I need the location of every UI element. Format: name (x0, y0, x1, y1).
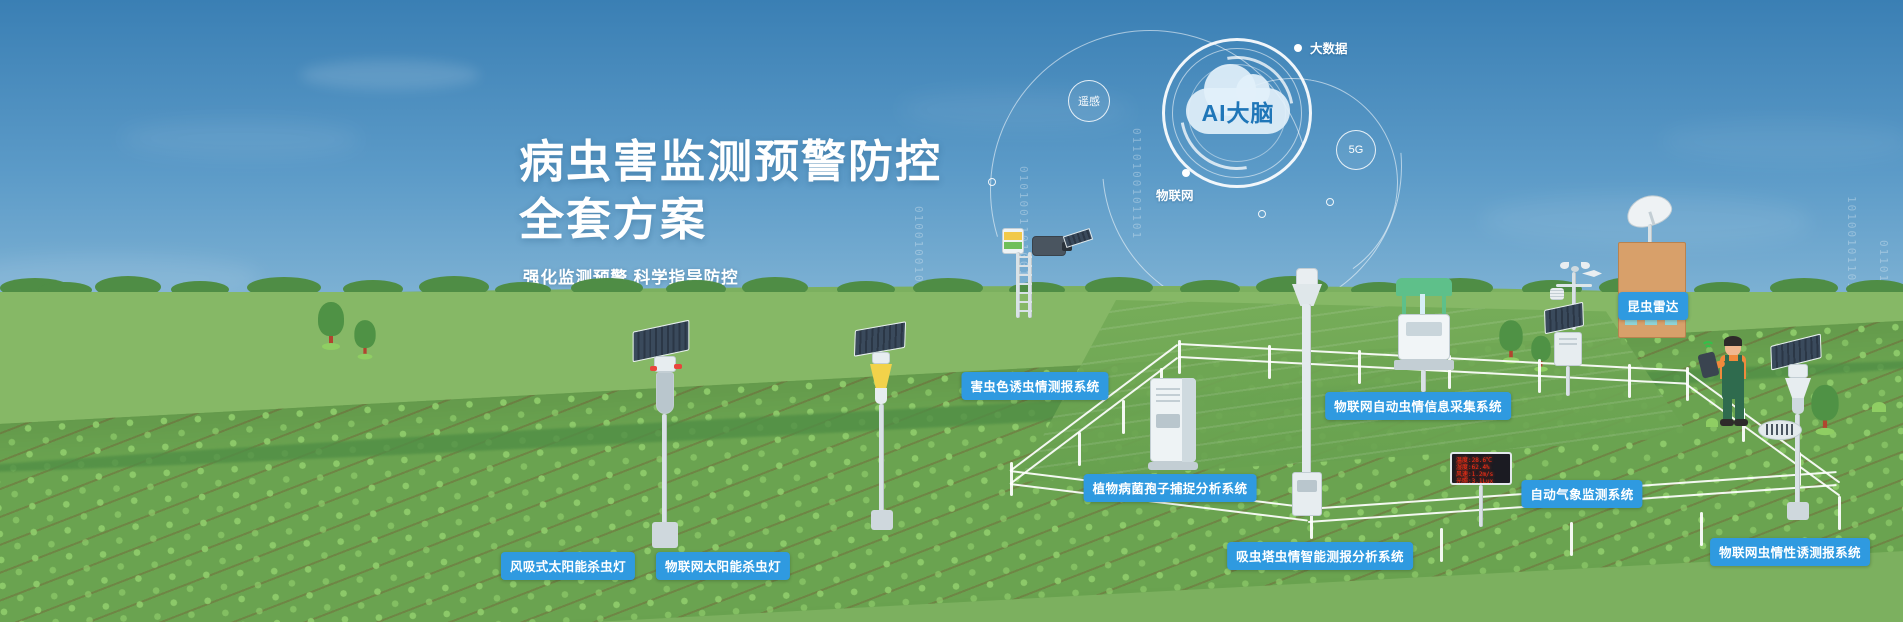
tree (354, 320, 375, 358)
lamp-tube (1420, 294, 1425, 316)
tower-cabinet-panel (1297, 480, 1317, 492)
ai-brain-label: AI大脑 (1202, 94, 1275, 128)
title-block: 病虫害监测预警防控 全套方案 强化监测预警 科学指导防控 (519, 133, 942, 288)
lamp-accent-red (674, 364, 682, 369)
lure-color-strip (1004, 242, 1022, 249)
cloud-decoration (1660, 120, 1903, 164)
lamp-funnel (870, 364, 892, 390)
station-pole (1566, 366, 1570, 396)
node-5g[interactable]: 5G (1336, 130, 1376, 170)
led-line: 温度:28.6℃ (1456, 457, 1506, 464)
worker-leg (1723, 395, 1732, 421)
device-spore-capture[interactable] (1142, 378, 1212, 488)
worker-hair (1724, 336, 1742, 346)
node-remote-sensing[interactable]: 遥感 (1068, 80, 1110, 122)
anemometer-cups (1560, 262, 1590, 272)
led-line: 风速:1.2m/s (1456, 471, 1506, 478)
worker-boot (1720, 419, 1734, 426)
solar-panel (1544, 302, 1584, 335)
led-line: 湿度:62.4% (1456, 464, 1506, 471)
pole-base (1787, 502, 1809, 520)
mounting-pole (662, 414, 667, 526)
spore-panel (1156, 414, 1180, 428)
ai-brain-cloud: AI大脑 (1186, 88, 1290, 134)
label-spore-capture[interactable]: 植物病菌孢子捕捉分析系统 (1084, 474, 1257, 502)
orbit-endpoint-dot (1326, 198, 1334, 206)
ladder-rungs (1016, 256, 1032, 318)
pole-base (652, 522, 678, 548)
pheromone-head (1788, 364, 1808, 378)
tower-head (1296, 268, 1318, 286)
orbit-endpoint-dot (1258, 210, 1266, 218)
camera-housing (1032, 236, 1066, 256)
worker-overalls (1722, 361, 1744, 399)
cross-arm (1556, 284, 1592, 287)
lamp-housing (654, 356, 676, 372)
orbit-endpoint-dot (988, 178, 996, 186)
support-pole (1421, 370, 1426, 392)
cloud-decoration (120, 120, 360, 158)
node-5g-label: 5G (1349, 144, 1364, 156)
title-line-1: 病虫害监测预警防控 (519, 136, 942, 187)
led-line: 光照:3.1Lux (1456, 478, 1506, 485)
pheromone-funnel (1785, 378, 1811, 400)
grass-tuft (1872, 402, 1886, 412)
title-line-2: 全套方案 (519, 194, 707, 245)
tower-cabinet (1292, 472, 1322, 516)
lure-color-strip (1004, 232, 1022, 240)
collector-body (1398, 314, 1450, 360)
field-technician (1699, 333, 1769, 428)
grass-tuft (1706, 418, 1718, 427)
controller-vent (1559, 338, 1577, 348)
tree (1499, 320, 1522, 361)
pole-base (871, 510, 893, 530)
device-color-lure-forecast[interactable] (988, 218, 1078, 328)
lamp-trap-body (656, 372, 674, 414)
mounting-pole (879, 404, 884, 514)
label-insect-radar[interactable]: 昆虫雷达 (1618, 292, 1688, 320)
led-display-board[interactable]: 温度:28.6℃ 湿度:62.4% 风速:1.2m/s 光照:3.1Lux (1450, 452, 1512, 485)
device-iot-solar-lamp[interactable] (850, 320, 930, 540)
label-auto-weather-station[interactable]: 自动气象监测系统 (1521, 480, 1642, 508)
ai-brain-graphic: AI大脑 遥感 5G 大数据 物联网 (1062, 22, 1492, 232)
node-iot-label: 物联网 (1156, 185, 1194, 204)
node-big-data-dot (1294, 44, 1302, 52)
label-suction-tower[interactable]: 吸虫塔虫情智能测报分析系统 (1227, 542, 1413, 570)
label-wind-suction-solar-lamp[interactable]: 风吸式太阳能杀虫灯 (501, 552, 635, 580)
canopy-strut (1442, 294, 1446, 316)
device-wind-suction-solar-lamp[interactable] (630, 322, 720, 552)
canopy-strut (1402, 294, 1406, 316)
worker-strap (1725, 355, 1729, 365)
device-insect-radar[interactable] (1596, 196, 1726, 346)
page-title: 病虫害监测预警防控 全套方案 (519, 133, 942, 248)
pheromone-jar (1792, 398, 1804, 414)
worker-boot (1734, 419, 1748, 426)
worker-strap (1738, 355, 1742, 365)
infographic-scene: 0100100101101 0101001101001 011010010110… (0, 0, 1903, 622)
lamp-collector (875, 388, 887, 404)
device-iot-auto-pest-collection[interactable] (1388, 278, 1468, 398)
label-iot-auto-pest-collection[interactable]: 物联网自动虫情信息采集系统 (1325, 392, 1511, 420)
collector-base (1394, 360, 1454, 370)
wifi-icon (1704, 345, 1712, 353)
label-iot-solar-lamp[interactable]: 物联网太阳能杀虫灯 (656, 552, 790, 580)
radiation-shield (1550, 288, 1564, 300)
tower-cone (1292, 284, 1322, 306)
collector-panel (1406, 322, 1442, 336)
tower-column (1302, 304, 1311, 480)
label-iot-pheromone-forecast[interactable]: 物联网虫情性诱测报系统 (1710, 538, 1870, 566)
led-board-pole (1479, 485, 1483, 527)
lamp-head (872, 352, 890, 364)
ground-trap-grid (1766, 424, 1794, 435)
worker-leg (1735, 395, 1744, 421)
cloud-decoration (300, 60, 480, 90)
tablet-device (1697, 351, 1719, 378)
label-color-lure-forecast[interactable]: 害虫色诱虫情测报系统 (961, 372, 1108, 400)
node-iot-dot (1182, 169, 1190, 177)
spore-cabinet-shadow (1182, 378, 1196, 462)
node-big-data-label: 大数据 (1310, 38, 1348, 57)
lamp-accent-red (650, 366, 657, 371)
node-remote-sensing-label: 遥感 (1078, 93, 1100, 109)
spore-vent (1156, 388, 1180, 406)
cabinet-base (1148, 462, 1198, 470)
tree (318, 302, 344, 348)
device-suction-tower[interactable] (1278, 268, 1338, 538)
